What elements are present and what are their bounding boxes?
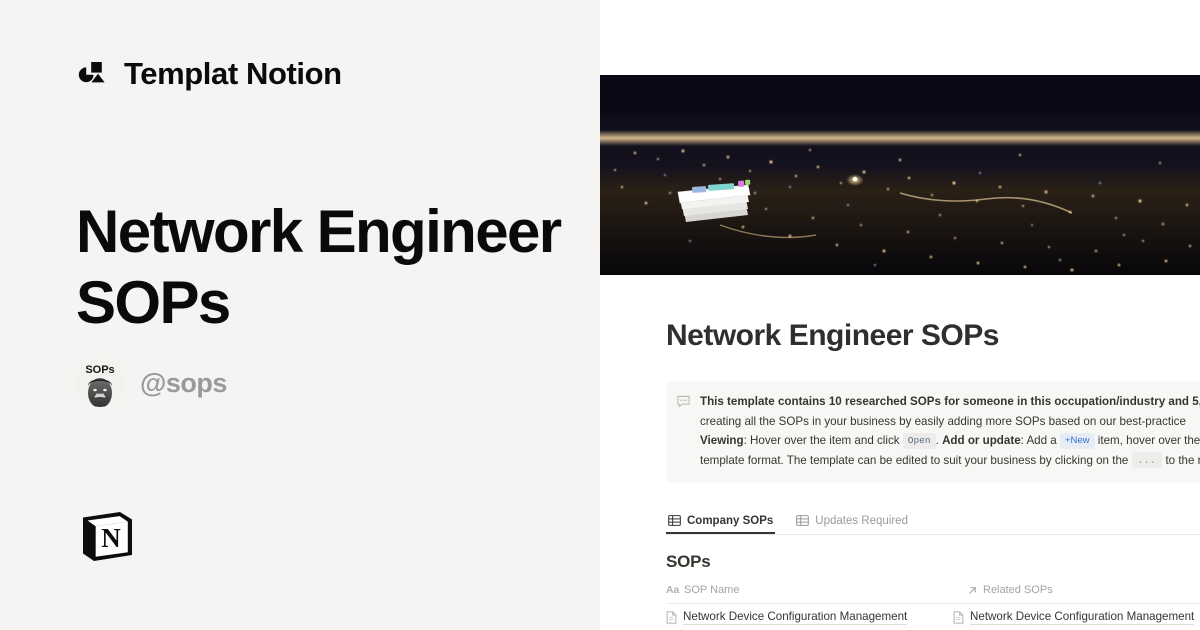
table-view-icon	[796, 514, 809, 527]
callout-line-3d: item, hover over the	[1098, 434, 1200, 447]
notion-page-title: Network Engineer SOPs	[666, 319, 1200, 353]
callout-add-label: Add or update	[942, 434, 1021, 447]
shapes-logo-icon	[76, 57, 110, 91]
page-title: Network Engineer SOPs	[76, 196, 576, 338]
cell-sop-name[interactable]: Network Device Configuration Management	[666, 604, 953, 630]
cell-related-sops[interactable]: Network Device Configuration Management	[953, 604, 1200, 630]
table-header-row: Aa SOP Name Related SOPs	[666, 581, 1200, 604]
callout-line-3c: : Add a	[1021, 434, 1057, 447]
callout-text: This template contains 10 researched SOP…	[700, 392, 1200, 470]
stacked-documents-icon	[668, 168, 754, 226]
callout-line-3b: .	[936, 434, 939, 447]
brand-lockup: Templat Notion	[76, 56, 342, 92]
ellipsis-chip[interactable]: ...	[1132, 452, 1163, 468]
tab-label: Company SOPs	[687, 515, 773, 527]
database-tabs: Company SOPs Updates Required	[666, 512, 1200, 535]
svg-text:SOPs: SOPs	[85, 364, 114, 376]
page-doc-icon	[666, 611, 677, 624]
column-header-related-sops[interactable]: Related SOPs	[953, 581, 1200, 603]
callout-viewing-label: Viewing	[700, 434, 744, 447]
column-header-sop-name[interactable]: Aa SOP Name	[666, 581, 953, 603]
tab-label: Updates Required	[815, 515, 908, 527]
tab-updates-required[interactable]: Updates Required	[794, 512, 910, 534]
speech-bubble-icon	[666, 392, 700, 470]
notion-cube-logo: N	[76, 505, 138, 567]
open-chip[interactable]: Open	[903, 433, 936, 449]
callout-line-2: creating all the SOPs in your business b…	[700, 415, 1186, 428]
avatar: SOPs	[76, 359, 124, 407]
callout-line-4b: to the r	[1165, 454, 1200, 467]
svg-text:N: N	[101, 523, 121, 553]
column-label: Related SOPs	[983, 584, 1053, 596]
table-view-icon	[668, 514, 681, 527]
brand-name: Templat Notion	[124, 56, 342, 92]
share-card: Templat Notion Network Engineer SOPs SOP…	[0, 0, 1200, 630]
cell-text: Network Device Configuration Management	[970, 610, 1194, 625]
tab-company-sops[interactable]: Company SOPs	[666, 512, 775, 534]
page-content: Network Engineer SOPs This template cont…	[600, 275, 1200, 630]
callout-line-1: This template contains 10 researched SOP…	[700, 395, 1200, 408]
callout-block: This template contains 10 researched SOP…	[666, 381, 1200, 483]
notion-page-preview: Network Engineer SOPs This template cont…	[600, 0, 1200, 630]
sops-table: Aa SOP Name Related SOPs	[666, 581, 1200, 630]
column-label: SOP Name	[684, 584, 739, 596]
relation-property-icon	[967, 585, 978, 596]
callout-line-3a: : Hover over the item and click	[744, 434, 900, 447]
new-chip[interactable]: +New	[1060, 433, 1095, 449]
cell-text: Network Device Configuration Management	[683, 610, 907, 625]
author-block: SOPs @sops	[76, 359, 227, 407]
callout-line-4a: template format. The template can be edi…	[700, 454, 1128, 467]
database-title: SOPs	[666, 552, 1200, 572]
page-doc-icon	[953, 611, 964, 624]
table-row[interactable]: Network Device Configuration Management …	[666, 604, 1200, 630]
title-property-icon: Aa	[666, 584, 679, 596]
author-handle: @sops	[140, 368, 227, 399]
left-panel: Templat Notion Network Engineer SOPs SOP…	[0, 0, 600, 630]
